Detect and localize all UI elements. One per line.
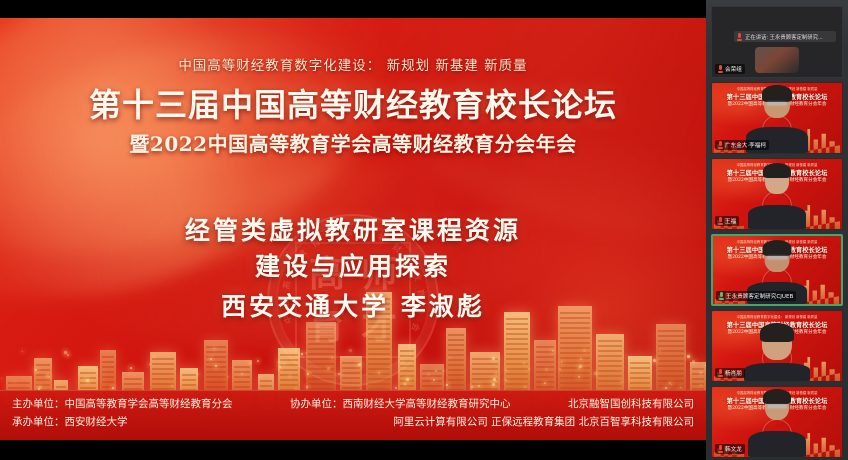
sparkle — [112, 387, 114, 389]
coorganizer-company: 北京融智国创科技有限公司 — [568, 397, 694, 411]
active-speaker-text: 正在讲话: 王永贵顾客定制研究... — [745, 33, 823, 41]
presentation-slide: 中国高等教育学会高等财经教育分会 高 师 育 才 中国高等财经教育数字化建设： … — [0, 18, 706, 440]
microphone-muted-icon[interactable] — [718, 445, 723, 453]
participant-tile[interactable]: 中国高等财经教育数字化建设： 新规划 新基建 新质量第十三届中国高等财经教育校长… — [711, 158, 843, 230]
sparkle — [259, 376, 261, 378]
sparkle — [67, 354, 69, 356]
footer-row-2: 承办单位：西安财经大学 阿里云计算有限公司 正保远程教育集团 北京百智享科技有限… — [0, 415, 706, 433]
sparkle — [395, 387, 397, 389]
sparkle — [241, 373, 243, 375]
organizer-label: 承办单位：西安财经大学 — [12, 415, 128, 429]
sparkle — [171, 385, 173, 387]
coorganizer-label: 协办单位：西南财经大学高等财经教育研究中心 — [290, 397, 511, 411]
sparkle — [257, 360, 259, 362]
footer-row-1: 主办单位：中国高等教育学会高等财经教育分会 协办单位：西南财经大学高等财经教育研… — [0, 397, 706, 415]
slide-headline: 第十三届中国高等财经教育校长论坛 — [0, 80, 706, 126]
sparkle — [153, 356, 155, 358]
participant-filmstrip[interactable]: 正在讲话: 王永贵顾客定制研究...会荣组中国高等财经教育数字化建设： 新规划 … — [706, 0, 848, 460]
sparkle — [35, 369, 37, 371]
participant-name: 王永贵顾客定制研究CJUEB — [726, 292, 793, 300]
microphone-muted-icon[interactable] — [718, 65, 723, 73]
meeting-window: 中国高等教育学会高等财经教育分会 高 师 育 才 中国高等财经教育数字化建设： … — [0, 0, 848, 460]
sparkle — [22, 351, 23, 352]
participant-name-bar: 广东金大·李福柯 — [715, 140, 769, 150]
sparkle — [197, 373, 199, 375]
participant-name-bar: 会荣组 — [715, 64, 745, 74]
participant-body — [748, 205, 806, 229]
talk-title-block: 经管类虚拟教研室课程资源 建设与应用探索 西安交通大学 李淑彪 — [0, 214, 706, 328]
participant-tile[interactable]: 中国高等财经教育数字化建设： 新规划 新基建 新质量第十三届中国高等财经教育校长… — [711, 386, 843, 458]
participant-hair — [760, 323, 794, 342]
participant-hair — [763, 389, 791, 404]
sparkle — [149, 364, 150, 365]
eyeglasses — [767, 102, 787, 105]
sparkle — [130, 367, 132, 369]
host-organization: 主办单位：中国高等教育学会高等财经教育分会 — [12, 397, 233, 411]
sparkle — [1, 378, 2, 379]
sparkle — [45, 388, 46, 389]
participant-name-bar: 韩文龙 — [715, 444, 745, 454]
microphone-muted-icon[interactable] — [718, 217, 723, 225]
microphone-on-icon[interactable] — [719, 292, 724, 300]
shared-screen-stage[interactable]: 中国高等教育学会高等财经教育分会 高 师 育 才 中国高等财经教育数字化建设： … — [0, 0, 706, 460]
participant-body — [744, 363, 810, 381]
sparkle — [215, 365, 217, 367]
participant-name: 会荣组 — [725, 65, 742, 73]
sparkle — [86, 379, 89, 382]
participant-name: 广东金大·李福柯 — [725, 141, 766, 149]
sparkle — [227, 376, 229, 378]
participant-name-bar: 王永贵顾客定制研究CJUEB — [716, 291, 796, 301]
microphone-icon — [737, 33, 742, 41]
participant-silhouette — [744, 323, 810, 381]
participant-hair — [762, 85, 792, 102]
participant-silhouette — [748, 163, 806, 229]
sparkle — [49, 376, 50, 377]
slide-kicker: 中国高等财经教育数字化建设： 新规划 新基建 新质量 — [0, 54, 706, 74]
microphone-muted-icon[interactable] — [718, 369, 723, 377]
participant-name-bar: 王福 — [715, 216, 739, 226]
slide-footer: 主办单位：中国高等教育学会高等财经教育分会 协办单位：西南财经大学高等财经教育研… — [0, 390, 706, 440]
participant-tile[interactable]: 中国高等财经教育数字化建设： 新规划 新基建 新质量第十三届中国高等财经教育校长… — [711, 310, 843, 382]
participant-name: 杨肖朋 — [725, 369, 742, 377]
speaker-affiliation-line: 西安交通大学 李淑彪 — [0, 286, 706, 328]
eyeglasses — [768, 405, 787, 408]
participant-name-bar: 杨肖朋 — [715, 368, 745, 378]
sparkle — [14, 382, 15, 383]
sparkle — [39, 386, 41, 388]
participant-tile[interactable]: 中国高等财经教育数字化建设： 新规划 新基建 新质量第十三届中国高等财经教育校长… — [711, 234, 843, 306]
participant-name: 王福 — [725, 217, 736, 225]
sparkle — [306, 386, 308, 388]
mini-slide-kicker: 中国高等财经教育数字化建设： 新规划 新基建 新质量 — [716, 314, 838, 319]
slide-subheadline: 暨2022中国高等教育学会高等财经教育分会年会 — [0, 128, 706, 157]
participant-name: 韩文龙 — [725, 445, 742, 453]
sparkle — [64, 351, 67, 354]
active-speaker-banner: 正在讲话: 王永贵顾客定制研究... — [734, 31, 836, 42]
participant-silhouette — [748, 389, 806, 457]
participant-hair — [763, 240, 792, 256]
participant-hair — [763, 163, 791, 178]
participant-body — [748, 431, 806, 457]
sparkle — [210, 358, 212, 360]
sponsor-list: 阿里云计算有限公司 正保远程教育集团 北京百智享科技有限公司 — [393, 415, 694, 429]
video-thumbnail-preview — [755, 47, 799, 73]
sparkle — [46, 374, 49, 377]
talk-title-line-1: 经管类虚拟教研室课程资源 — [0, 214, 706, 248]
participant-tile[interactable]: 正在讲话: 王永贵顾客定制研究...会荣组 — [711, 6, 843, 78]
sparkle — [214, 348, 215, 349]
sparkle — [249, 362, 251, 364]
eyeglasses — [767, 256, 787, 259]
participant-tile[interactable]: 中国高等财经教育数字化建设： 新规划 新基建 新质量第十三届中国高等财经教育校长… — [711, 82, 843, 154]
talk-title-line-2: 建设与应用探索 — [0, 248, 706, 286]
microphone-muted-icon[interactable] — [718, 141, 723, 149]
sparkle — [85, 377, 86, 378]
